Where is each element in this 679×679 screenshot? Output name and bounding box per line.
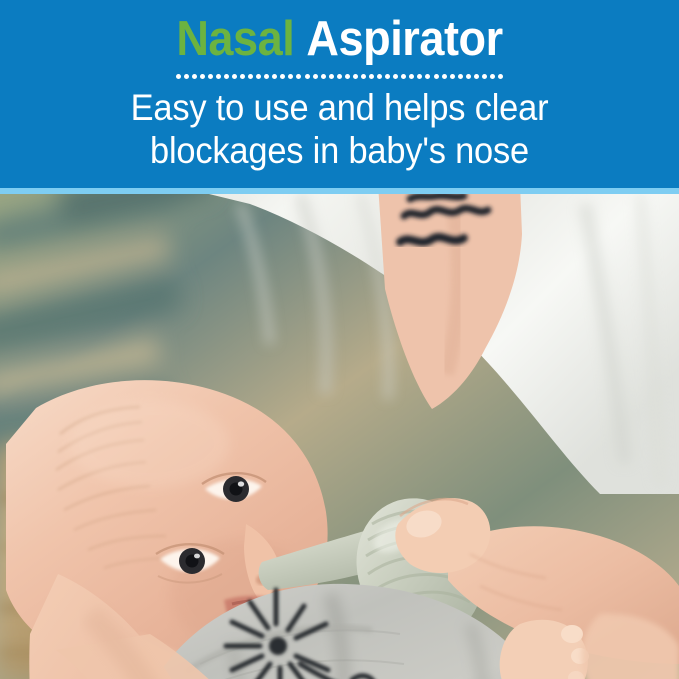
divider-dot <box>345 74 350 79</box>
divider-dot <box>409 74 414 79</box>
divider-dot <box>321 74 326 79</box>
divider-dot <box>313 74 318 79</box>
divider-dot <box>208 74 213 79</box>
divider-dot <box>401 74 406 79</box>
divider-dot <box>224 74 229 79</box>
title-word-primary: Nasal <box>176 12 294 66</box>
divider-dot <box>192 74 197 79</box>
product-photo <box>0 194 679 679</box>
divider-dot <box>361 74 366 79</box>
divider-dot <box>417 74 422 79</box>
divider-dot <box>232 74 237 79</box>
divider-dot <box>248 74 253 79</box>
divider-dot <box>450 74 455 79</box>
subtitle-line-1: Easy to use and helps clear <box>24 86 655 129</box>
divider-dot <box>425 74 430 79</box>
divider-dot <box>305 74 310 79</box>
divider-dot <box>434 74 439 79</box>
divider-dot <box>200 74 205 79</box>
product-image-card: Nasal Aspirator <box>0 0 679 679</box>
divider-dot <box>393 74 398 79</box>
divider-dot <box>353 74 358 79</box>
divider-dot <box>377 74 382 79</box>
page-title: Nasal Aspirator <box>27 13 652 65</box>
divider-dot <box>369 74 374 79</box>
subtitle-line-2: blockages in baby's nose <box>24 129 655 172</box>
divider-dot <box>490 74 495 79</box>
divider-dot <box>442 74 447 79</box>
divider-dot <box>498 74 503 79</box>
divider-dot <box>474 74 479 79</box>
divider-dot <box>272 74 277 79</box>
divider-dot <box>458 74 463 79</box>
photo-illustration <box>0 194 679 679</box>
divider-dot <box>482 74 487 79</box>
subtitle: Easy to use and helps clear blockages in… <box>24 86 655 172</box>
divider-dot <box>280 74 285 79</box>
divider-dot <box>296 74 301 79</box>
divider-dot <box>240 74 245 79</box>
divider-dot <box>256 74 261 79</box>
divider-dot <box>337 74 342 79</box>
divider-dot <box>385 74 390 79</box>
divider-dot <box>264 74 269 79</box>
title-word-secondary: Aspirator <box>306 12 502 66</box>
divider-dot <box>329 74 334 79</box>
header-banner: Nasal Aspirator <box>0 0 679 188</box>
divider-dot <box>176 74 181 79</box>
dotted-divider <box>176 72 504 80</box>
divider-dot <box>288 74 293 79</box>
divider-dot <box>466 74 471 79</box>
divider-dot <box>216 74 221 79</box>
divider-dot <box>184 74 189 79</box>
